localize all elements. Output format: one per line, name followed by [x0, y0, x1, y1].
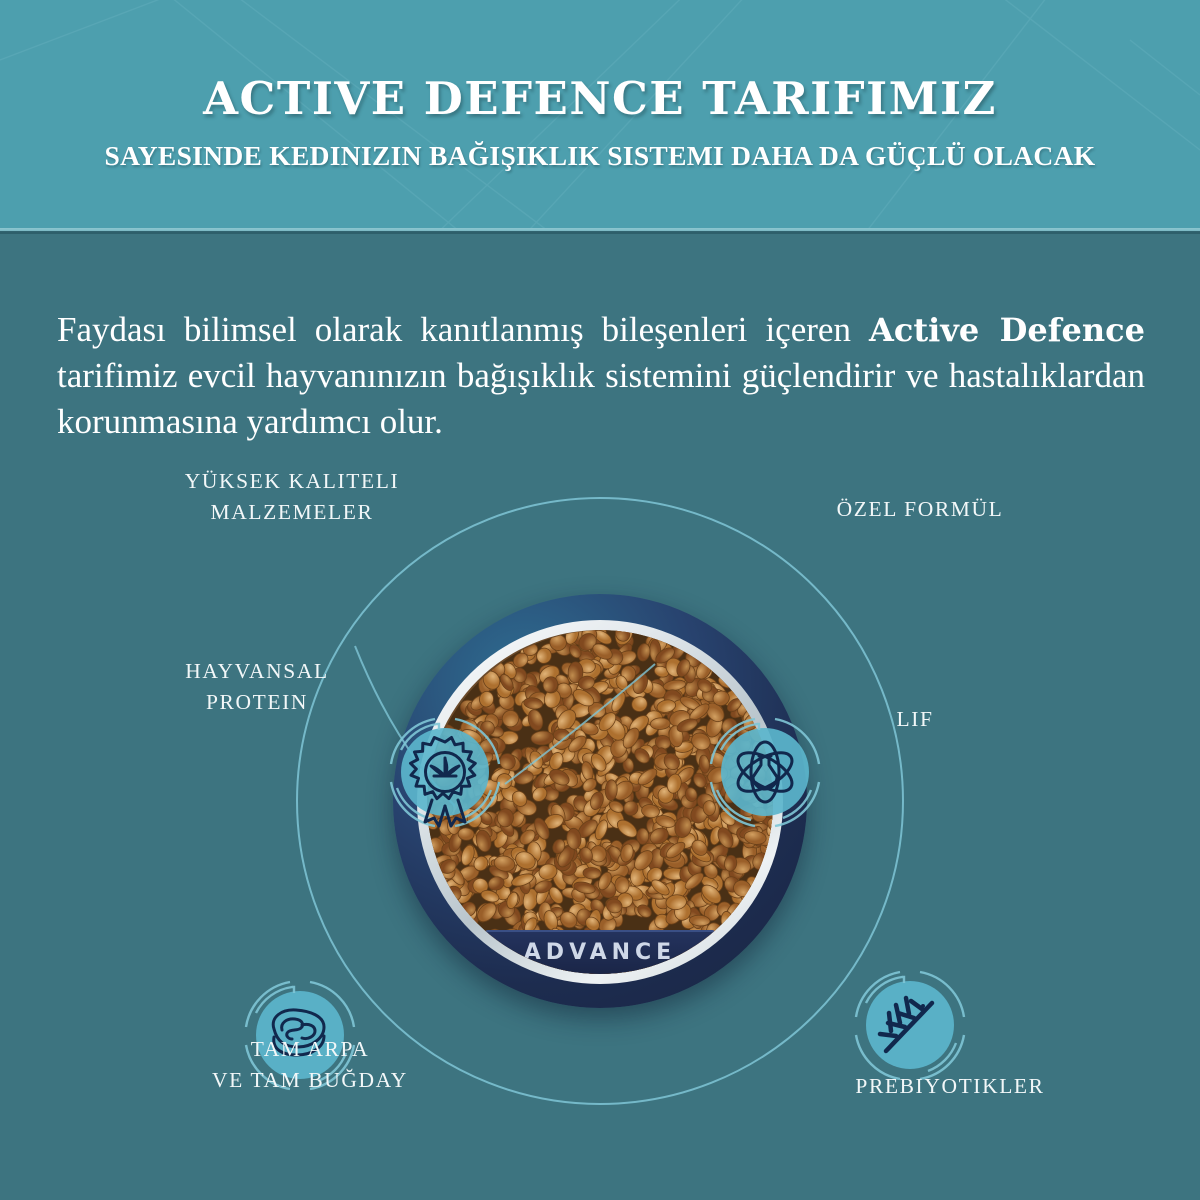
- badge-atom-flask-icon[interactable]: [711, 719, 819, 826]
- benefit-label-formula: ÖZEL FORMÜL: [770, 494, 1070, 525]
- benefit-label-protein: HAYVANSAL PROTEIN: [132, 656, 382, 718]
- page-subtitle: SAYESINDE KEDINIZIN BAĞIŞIKLIK SISTEMI D…: [0, 140, 1200, 172]
- benefit-label-quality: YÜKSEK KALITELI MALZEMELER: [152, 466, 432, 528]
- body-area: Faydası bilimsel olarak kanıtlanmış bile…: [0, 234, 1200, 1200]
- benefits-diagram: ADVANCE: [0, 434, 1200, 1200]
- page-title: ACTIVE DEFENCE TARIFIMIZ: [0, 72, 1200, 125]
- header-banner: ACTIVE DEFENCE TARIFIMIZ SAYESINDE KEDIN…: [0, 0, 1200, 228]
- intro-brand: Active Defence: [869, 311, 1145, 349]
- intro-text-1: Faydası bilimsel olarak kanıtlanmış bile…: [57, 310, 869, 349]
- benefit-label-prebiotics: PREBIYOTIKLER: [820, 1071, 1080, 1102]
- badge-quality-badge-icon[interactable]: [391, 719, 499, 826]
- benefit-label-grains: TAM ARPA VE TAM BUĞDAY: [170, 1034, 450, 1096]
- poster-root: ACTIVE DEFENCE TARIFIMIZ SAYESINDE KEDIN…: [0, 0, 1200, 1200]
- intro-paragraph: Faydası bilimsel olarak kanıtlanmış bile…: [57, 307, 1145, 446]
- intro-text-2: tarifimiz evcil hayvanınızın bağışıklık …: [57, 356, 1145, 441]
- badge-herb-sprig-icon[interactable]: [856, 972, 964, 1079]
- benefit-label-fiber: LIF: [850, 704, 980, 735]
